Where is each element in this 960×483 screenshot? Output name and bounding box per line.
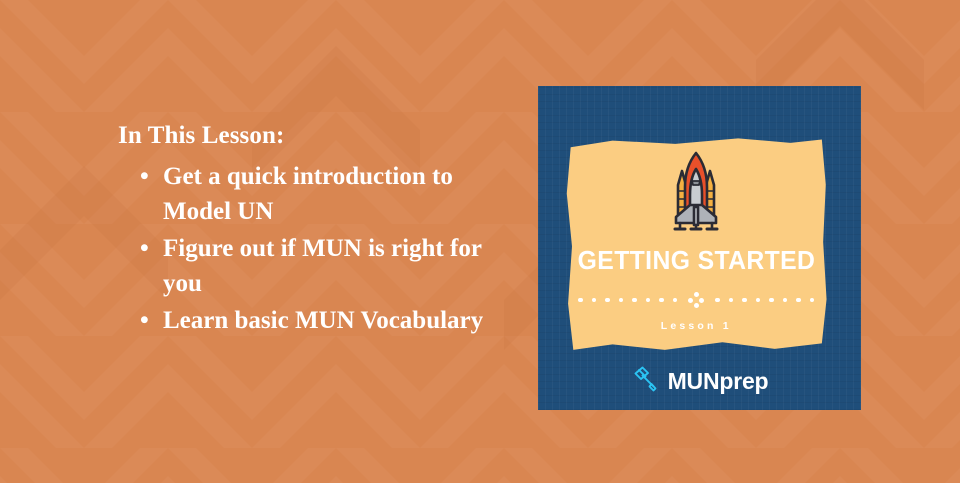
divider-dot [632, 298, 637, 303]
divider-dot [715, 298, 720, 303]
list-item: Figure out if MUN is right for you [118, 231, 518, 301]
brand-lockup: MUNprep [538, 365, 861, 398]
divider-dot [605, 298, 610, 303]
page-title: In This Lesson: [118, 122, 518, 151]
divider-dot [619, 298, 624, 303]
divider-dot [592, 298, 597, 303]
divider-dot [578, 298, 583, 303]
divider-dot [796, 298, 801, 303]
divider-dot [783, 298, 788, 303]
card-title: GETTING STARTED [577, 247, 815, 276]
gavel-icon [631, 365, 659, 398]
card-content: GETTING STARTED [565, 136, 827, 356]
divider-dot [742, 298, 747, 303]
lesson-objectives-list: Get a quick introduction to Model UN Fig… [118, 159, 518, 338]
list-item: Learn basic MUN Vocabulary [118, 303, 518, 338]
decorative-divider [578, 294, 814, 306]
brand-name-bold: MUN [668, 368, 720, 394]
divider-dot [659, 298, 664, 303]
lesson-panel: In This Lesson: Get a quick introduction… [118, 122, 518, 340]
diamond-ornament-icon [688, 292, 704, 308]
divider-dot [646, 298, 651, 303]
divider-dot [810, 298, 815, 303]
list-item: Get a quick introduction to Model UN [118, 159, 518, 229]
divider-dot [729, 298, 734, 303]
course-card: GETTING STARTED [538, 86, 861, 410]
divider-dot [769, 298, 774, 303]
brand-name-light: prep [719, 368, 768, 394]
slide-canvas: In This Lesson: Get a quick introduction… [0, 0, 960, 483]
divider-dot [673, 298, 678, 303]
divider-dot [756, 298, 761, 303]
brand-name: MUNprep [668, 370, 769, 393]
space-shuttle-icon [660, 149, 732, 238]
lesson-number-label: Lesson 1 [661, 320, 732, 332]
